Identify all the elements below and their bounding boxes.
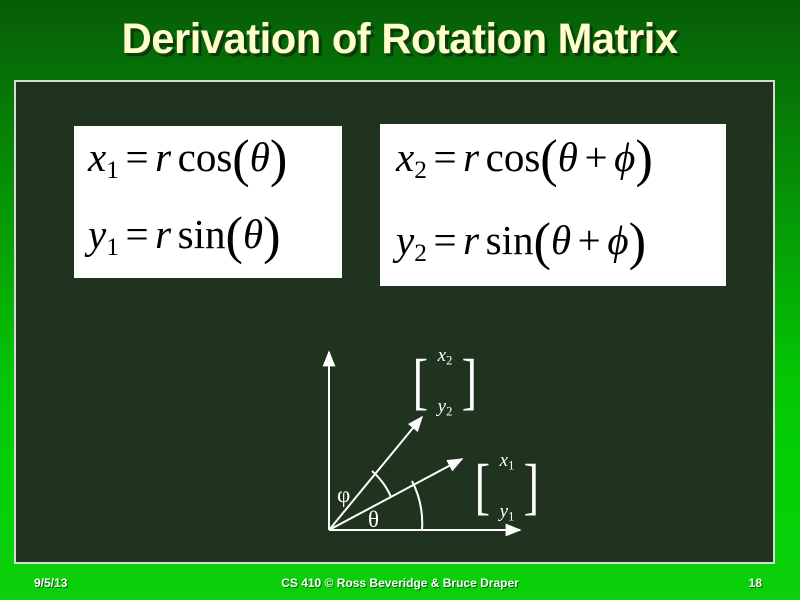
eq4-arg1: θ [551, 217, 571, 263]
slide-title-bar: Derivation of Rotation Matrix [0, 14, 800, 72]
theta-angle-label: θ [368, 508, 379, 531]
vector1-top: x1 [500, 447, 515, 476]
page-title: Derivation of Rotation Matrix [122, 14, 678, 64]
eq3-plus: + [584, 134, 607, 180]
eq2-equals: = [125, 211, 148, 257]
eq3-lhs-var: x [396, 134, 414, 180]
eq3-lhs-sub: 2 [414, 156, 427, 184]
slide: Derivation of Rotation Matrix x1=rcos(θ)… [0, 0, 800, 600]
equation-y2: y2=rsin(θ+ϕ) [396, 205, 726, 288]
eq3-radius: r [463, 134, 479, 180]
equation-y1: y1=rsin(θ) [88, 202, 342, 279]
eq4-open-paren: ( [534, 213, 551, 271]
column-vector-1-label: [x1y1] [472, 447, 542, 527]
eq4-equals: = [433, 217, 456, 263]
eq2-lhs-var: y [88, 211, 106, 257]
equation-box-2: x2=rcos(θ+ϕ) y2=rsin(θ+ϕ) [380, 124, 726, 286]
phi-angle-label: φ [337, 483, 350, 506]
column-vector-2-label: [x2y2] [410, 342, 480, 422]
eq1-close-paren: ) [270, 130, 287, 188]
equation-x2: x2=rcos(θ+ϕ) [396, 122, 726, 205]
eq2-lhs-sub: 1 [106, 233, 119, 261]
theta-arc [412, 481, 422, 530]
eq4-func: sin [486, 217, 534, 263]
eq1-radius: r [155, 134, 171, 180]
eq2-close-paren: ) [263, 207, 280, 265]
vector2-bottom: y2 [438, 393, 453, 422]
eq3-open-paren: ( [540, 130, 557, 188]
content-panel: x1=rcos(θ) y1=rsin(θ) x2=rcos(θ+ϕ) y2=rs… [14, 80, 775, 564]
vector1-bottom: y1 [500, 498, 515, 527]
eq2-open-paren: ( [226, 207, 243, 265]
equation-x1: x1=rcos(θ) [88, 125, 342, 202]
eq2-arg: θ [243, 211, 263, 257]
eq4-arg2: ϕ [607, 217, 628, 263]
slide-footer: 9/5/13 CS 410 © Ross Beveridge & Bruce D… [0, 566, 800, 600]
eq3-close-paren: ) [635, 130, 652, 188]
eq2-radius: r [155, 211, 171, 257]
eq4-radius: r [463, 217, 479, 263]
footer-credit: CS 410 © Ross Beveridge & Bruce Draper [0, 576, 800, 590]
eq3-arg2: ϕ [614, 134, 635, 180]
eq1-equals: = [125, 134, 148, 180]
eq4-lhs-sub: 2 [414, 239, 427, 267]
eq2-func: sin [178, 211, 226, 257]
footer-page-number: 18 [749, 576, 762, 590]
eq3-equals: = [433, 134, 456, 180]
eq4-close-paren: ) [629, 213, 646, 271]
eq1-lhs-var: x [88, 134, 106, 180]
eq1-open-paren: ( [232, 130, 249, 188]
eq3-func: cos [486, 134, 541, 180]
eq1-arg: θ [250, 134, 270, 180]
eq1-func: cos [178, 134, 233, 180]
eq4-lhs-var: y [396, 217, 414, 263]
rotation-vector-diagram: [x2y2] [x1y1] φ θ [292, 340, 562, 555]
vector2-top: x2 [438, 342, 453, 371]
eq4-plus: + [578, 217, 601, 263]
phi-arc [372, 471, 391, 497]
equation-box-1: x1=rcos(θ) y1=rsin(θ) [74, 126, 342, 278]
eq3-arg1: θ [558, 134, 578, 180]
eq1-lhs-sub: 1 [106, 156, 119, 184]
